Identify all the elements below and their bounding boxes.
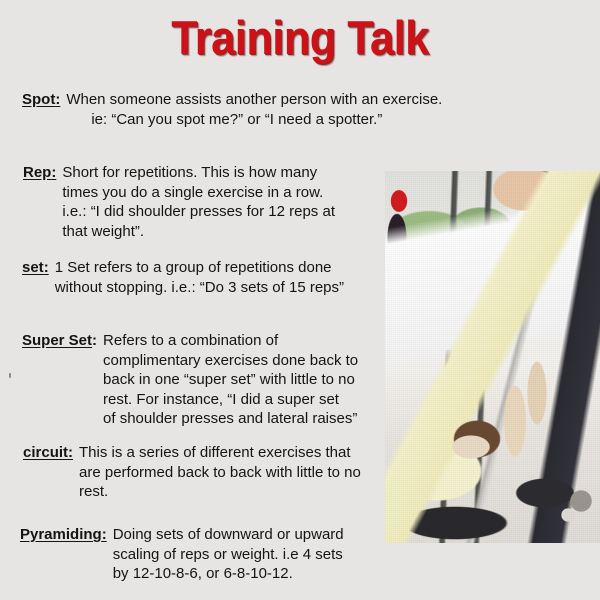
- glossary-definition-spot: When someone assists another person with…: [66, 90, 442, 129]
- glossary-definition-pyramiding: Doing sets of downward or upward scaling…: [113, 525, 344, 584]
- definition-line: back in one “super set” with little to n…: [103, 370, 358, 390]
- definition-line: by 12-10-8-6, or 6-8-10-12.: [113, 564, 344, 584]
- definition-line: complimentary exercises done back to: [103, 351, 358, 371]
- definition-line: i.e.: “I did shoulder presses for 12 rep…: [62, 202, 335, 222]
- definition-line: rest.: [79, 482, 361, 502]
- glossary-definition-circuit: This is a series of different exercises …: [79, 443, 361, 502]
- page-title: Training Talk: [24, 12, 576, 64]
- glossary-definition-rep: Short for repetitions. This is how many …: [62, 163, 335, 241]
- definition-line: rest. For instance, “I did a super set: [103, 390, 358, 410]
- glossary-entry-set: set: 1 Set refers to a group of repetiti…: [22, 258, 344, 297]
- definition-line: Short for repetitions. This is how many: [62, 163, 335, 183]
- glossary-entry-circuit: circuit: This is a series of different e…: [23, 443, 361, 502]
- glossary-definition-set: 1 Set refers to a group of repetitions d…: [55, 258, 344, 297]
- definition-line: are performed back to back with little t…: [79, 463, 361, 483]
- slide-canvas: Training Talk Spot: When someone assists…: [0, 0, 600, 600]
- definition-line: times you do a single exercise in a row.: [62, 183, 335, 203]
- definition-line: Refers to a combination of: [103, 331, 358, 351]
- definition-line: Doing sets of downward or upward: [113, 525, 344, 545]
- glossary-term-circuit: circuit:: [23, 443, 73, 463]
- glossary-term-super-set: Super Set:: [22, 331, 97, 351]
- definition-line: 1 Set refers to a group of repetitions d…: [55, 258, 344, 278]
- definition-line: When someone assists another person with…: [66, 90, 442, 110]
- glossary-term-set: set:: [22, 258, 49, 278]
- definition-line: scaling of reps or weight. i.e 4 sets: [113, 545, 344, 565]
- glossary-entry-rep: Rep: Short for repetitions. This is how …: [23, 163, 335, 241]
- glossary-entry-spot: Spot: When someone assists another perso…: [22, 90, 442, 129]
- definition-line: of shoulder presses and lateral raises”: [103, 409, 358, 429]
- glossary-entry-pyramiding: Pyramiding: Doing sets of downward or up…: [20, 525, 344, 584]
- photo-grain-overlay: [385, 171, 600, 543]
- glossary-term-rep: Rep:: [23, 163, 56, 183]
- glossary-term-pyramiding: Pyramiding:: [20, 525, 107, 545]
- definition-line: that weight”.: [62, 222, 335, 242]
- glossary-term-spot: Spot:: [22, 90, 60, 110]
- glossary-definition-super-set: Refers to a combination of complimentary…: [103, 331, 358, 429]
- definition-line: ie: “Can you spot me?” or “I need a spot…: [66, 110, 442, 130]
- glossary-entry-super-set: Super Set: Refers to a combination of co…: [22, 331, 358, 429]
- definition-line: without stopping. i.e.: “Do 3 sets of 15…: [55, 278, 344, 298]
- definition-line: This is a series of different exercises …: [79, 443, 361, 463]
- stray-speck: [9, 373, 11, 378]
- gym-spotting-photo: [385, 171, 600, 543]
